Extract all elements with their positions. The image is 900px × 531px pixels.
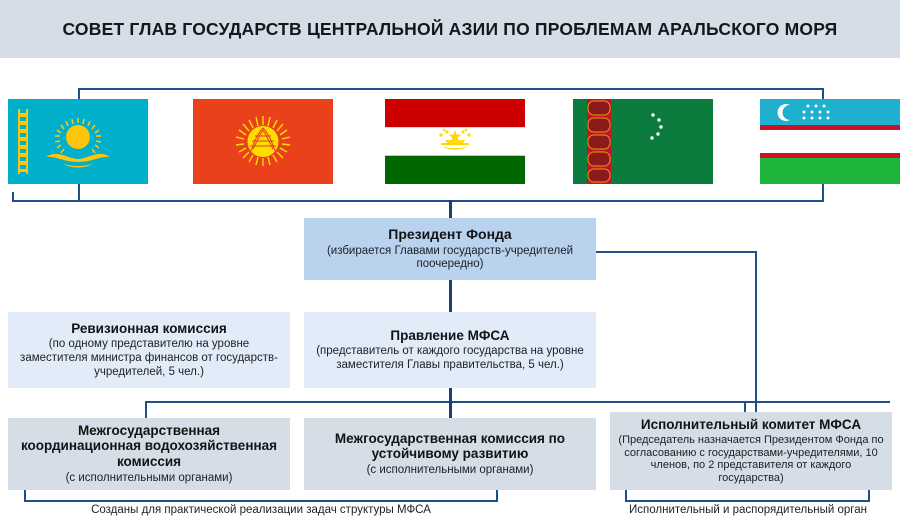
bracket-left-bar <box>24 500 498 502</box>
connector-bus-drop-sustainable <box>449 401 452 418</box>
connector-right-rail <box>755 251 757 412</box>
flag-uzbekistan <box>760 99 900 184</box>
node-executive-committee-title: Исполнительный комитет МФСА <box>641 417 861 433</box>
connector-president-right <box>596 251 757 253</box>
node-board-ifas[interactable]: Правление МФСА (представитель от каждого… <box>304 312 596 388</box>
connector-to-president <box>449 200 452 218</box>
node-audit-commission[interactable]: Ревизионная комиссия (по одному представ… <box>8 312 290 388</box>
caption-right: Исполнительный и распорядительный орган <box>617 504 879 516</box>
node-executive-committee[interactable]: Исполнительный комитет МФСА (Председател… <box>610 412 892 490</box>
connector-level4-bus <box>145 401 890 403</box>
node-president-subtitle: (избирается Главами государств-учредител… <box>312 245 588 272</box>
connector-president-board <box>449 280 452 312</box>
connector-council-bus <box>78 88 824 90</box>
caption-left: Созданы для практической реализации зада… <box>24 504 498 516</box>
node-executive-committee-subtitle: (Председатель назначается Президентом Фо… <box>618 434 884 485</box>
node-board-ifas-title: Правление МФСА <box>390 328 509 344</box>
node-water-commission-subtitle: (с исполнительными органами) <box>66 472 233 486</box>
node-president-title: Президент Фонда <box>388 226 511 242</box>
flag-kyrgyzstan <box>193 99 333 184</box>
node-sustainable-commission[interactable]: Межгосударственная комиссия по устойчиво… <box>304 418 596 490</box>
page-title: СОВЕТ ГЛАВ ГОСУДАРСТВ ЦЕНТРАЛЬНОЙ АЗИИ П… <box>0 0 900 58</box>
flag-tajikistan <box>385 99 525 184</box>
node-president[interactable]: Президент Фонда (избирается Главами госу… <box>304 218 596 280</box>
node-audit-commission-title: Ревизионная комиссия <box>71 321 227 337</box>
node-sustainable-commission-title: Межгосударственная комиссия по устойчиво… <box>314 431 586 462</box>
bracket-right-end <box>868 490 870 502</box>
connector-flags-bus-left-end <box>12 192 14 202</box>
node-board-ifas-subtitle: (представитель от каждого государства на… <box>312 345 588 372</box>
org-chart-diagram: СОВЕТ ГЛАВ ГОСУДАРСТВ ЦЕНТРАЛЬНОЙ АЗИИ П… <box>0 0 900 531</box>
node-water-commission[interactable]: Межгосударственная координационная водох… <box>8 418 290 490</box>
connector-bus-drop-water <box>145 401 147 418</box>
bracket-right-bar <box>625 500 870 502</box>
node-audit-commission-subtitle: (по одному представителю на уровне замес… <box>20 338 278 379</box>
flag-kazakhstan <box>8 99 148 184</box>
flag-turkmenistan <box>573 99 713 184</box>
node-water-commission-title: Межгосударственная координационная водох… <box>18 423 280 470</box>
node-sustainable-commission-subtitle: (с исполнительными органами) <box>367 464 534 478</box>
bracket-left-end <box>496 490 498 502</box>
connector-board-down <box>449 388 452 402</box>
connector-flags-bus <box>12 200 824 202</box>
